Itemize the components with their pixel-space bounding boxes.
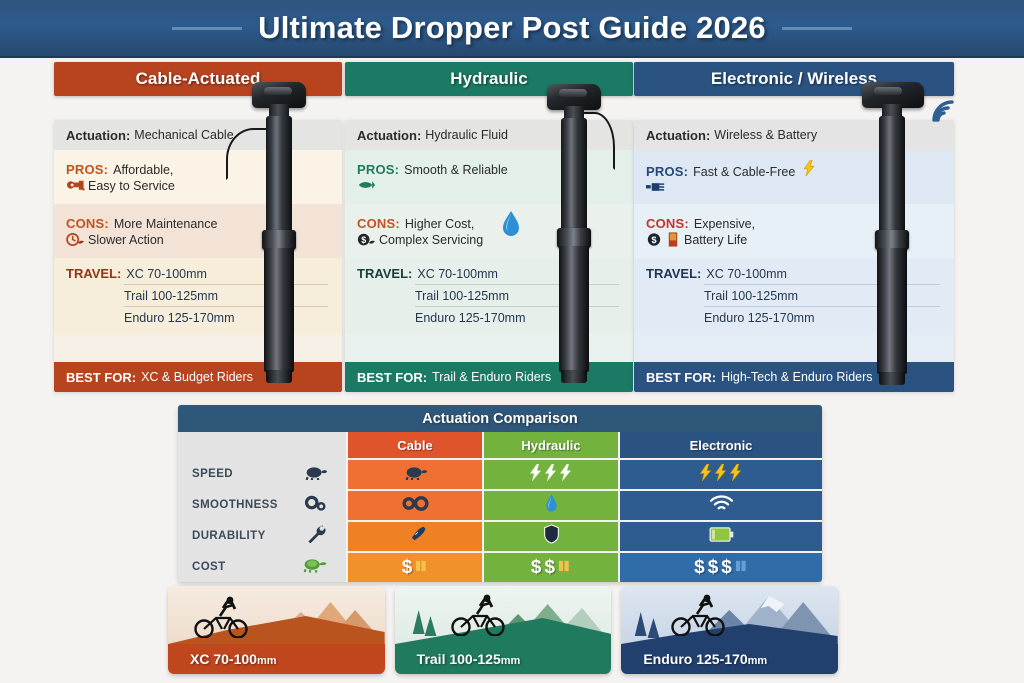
comparison-cell-speed-cable <box>346 458 482 489</box>
actuation-value-cable: Mechanical Cable <box>134 128 233 142</box>
lightning-yellow-icon <box>730 464 742 486</box>
page-title: Ultimate Dropper Post Guide 2026 <box>258 10 766 46</box>
actuation-label-cable: Actuation: <box>66 128 130 143</box>
pros-label-electronic: PROS: <box>646 164 688 179</box>
comparison-cell-smoothness-cable <box>346 489 482 520</box>
comparison-grid: Cable Hydraulic Electronic SPEED <box>178 432 822 582</box>
actuation-value-hydraulic: Hydraulic Fluid <box>425 128 508 142</box>
dollar-coin-icon: $ <box>646 232 663 247</box>
band-art-xc <box>168 586 385 644</box>
fish-icon <box>357 178 374 193</box>
comparison-cell-smoothness-electronic <box>618 489 822 520</box>
travel-enduro-electronic: Enduro 125-170mm <box>704 311 814 325</box>
band-xc-unit: mm <box>257 655 277 667</box>
travel-xc-hydraulic: XC 70-100mm <box>417 267 498 281</box>
hydraulic-drop-icon <box>500 210 522 238</box>
travel-xc-electronic: XC 70-100mm <box>706 267 787 281</box>
best-for-label-cable: BEST FOR: <box>66 370 136 385</box>
actuation-row-cable: Actuation: Mechanical Cable <box>54 120 342 150</box>
best-for-value-hydraulic: Trail & Enduro Riders <box>432 370 551 384</box>
band-enduro-main: Enduro 125-170 <box>643 651 747 667</box>
pros-label-cable: PROS: <box>66 162 108 177</box>
wrench-bracket-icon <box>66 178 83 193</box>
plug-cut-icon <box>646 180 663 195</box>
pros-text-1-electronic: Fast & Cable-Free <box>693 165 795 179</box>
comparison-cell-durability-electronic <box>618 520 822 551</box>
cons-row-hydraulic: CONS: Higher Cost, $ Complex Servicing <box>345 204 633 258</box>
comparison-title-bar: Actuation Comparison <box>178 405 822 432</box>
pros-label-hydraulic: PROS: <box>357 162 399 177</box>
dollar-sign-icon: $ <box>402 557 413 579</box>
comparison-cell-cost-hydraulic: $ $ <box>482 551 618 582</box>
card-header-hydraulic: Hydraulic <box>345 62 633 96</box>
band-trail-main: Trail 100-125 <box>417 651 501 667</box>
svg-text:$: $ <box>361 235 366 245</box>
comparison-cell-durability-hydraulic <box>482 520 618 551</box>
cons-text-1-cable: More Maintenance <box>114 217 218 231</box>
pros-text-2-cable: Easy to Service <box>88 179 175 193</box>
dollar-sign-icon: $ <box>708 557 719 579</box>
cons-text-1-hydraulic: Higher Cost, <box>405 217 474 231</box>
band-label-enduro-text: Enduro 125-170mm <box>643 651 767 667</box>
card-cable-actuated[interactable]: Cable-Actuated Actuation: Mechanical Cab… <box>54 62 342 392</box>
travel-label-cable: TRAVEL: <box>66 266 121 281</box>
comparison-title: Actuation Comparison <box>422 411 577 427</box>
band-enduro-unit: mm <box>748 655 768 667</box>
gears-icon <box>401 495 430 517</box>
travel-row-electronic: TRAVEL: XC 70-100mm Trail 100-125mm Endu… <box>634 258 954 334</box>
travel-trail-hydraulic: Trail 100-125mm <box>415 289 509 303</box>
actuation-comparison-table: Actuation Comparison Cable Hydraulic Ele… <box>178 405 822 582</box>
comparison-header-hydraulic-label: Hydraulic <box>521 438 580 453</box>
comparison-header-cable-label: Cable <box>397 438 432 453</box>
coin-stack-icon <box>558 559 571 577</box>
card-body-electronic: Actuation: Wireless & Battery PROS: Fast… <box>634 120 954 392</box>
band-label-trail-text: Trail 100-125mm <box>417 651 521 667</box>
actuation-value-electronic: Wireless & Battery <box>714 128 817 142</box>
band-xc-main: XC 70-100 <box>190 651 257 667</box>
actuation-row-electronic: Actuation: Wireless & Battery <box>634 120 954 150</box>
comparison-header-blank <box>178 432 346 458</box>
card-title-hydraulic: Hydraulic <box>450 69 527 89</box>
band-label-trail: Trail 100-125mm <box>395 644 612 674</box>
comparison-cell-speed-electronic <box>618 458 822 489</box>
comparison-row-label-durability: DURABILITY <box>178 520 346 551</box>
comparison-row-label-speed: SPEED <box>178 458 346 489</box>
cons-row-electronic: CONS: Expensive, $ Battery Life <box>634 204 954 258</box>
pros-text-1-cable: Affordable, <box>113 163 173 177</box>
band-label-xc: XC 70-100mm <box>168 644 385 674</box>
band-trail[interactable]: Trail 100-125mm <box>395 586 612 674</box>
lightning-yellow-icon <box>715 464 727 486</box>
band-xc[interactable]: XC 70-100mm <box>168 586 385 674</box>
comparison-cell-cost-cable: $ <box>346 551 482 582</box>
card-body-cable: Actuation: Mechanical Cable PROS: Afford… <box>54 120 342 392</box>
band-label-xc-text: XC 70-100mm <box>190 651 277 667</box>
row-label-speed: SPEED <box>192 468 233 480</box>
wifi-icon <box>709 495 734 517</box>
comparison-cell-smoothness-hydraulic <box>482 489 618 520</box>
battery-icon <box>709 526 734 548</box>
title-rule-left <box>172 27 242 30</box>
travel-enduro-hydraulic: Enduro 125-170mm <box>415 311 525 325</box>
card-hydraulic[interactable]: Hydraulic Actuation: Hydraulic Fluid PRO… <box>345 62 633 392</box>
dollar-sign-icon: $ <box>721 557 732 579</box>
row-label-cost: COST <box>192 561 226 573</box>
cons-label-hydraulic: CONS: <box>357 216 400 231</box>
cyclist-icon <box>667 594 737 636</box>
turtle-green-icon <box>300 557 328 577</box>
travel-label-hydraulic: TRAVEL: <box>357 266 412 281</box>
lightning-white-icon <box>530 464 542 486</box>
best-for-row-electronic: BEST FOR: High-Tech & Enduro Riders <box>634 362 954 392</box>
lightning-bolt-icon <box>803 160 820 175</box>
turtle-icon <box>302 465 328 483</box>
best-for-row-cable: BEST FOR: XC & Budget Riders <box>54 362 342 392</box>
travel-trail-cable: Trail 100-125mm <box>124 289 218 303</box>
band-enduro[interactable]: Enduro 125-170mm <box>621 586 838 674</box>
card-title-electronic: Electronic / Wireless <box>711 69 877 89</box>
best-for-value-electronic: High-Tech & Enduro Riders <box>721 370 872 384</box>
dollar-sign-icon: $ <box>545 557 556 579</box>
wrench-icon <box>404 525 427 548</box>
row-label-durability: DURABILITY <box>192 530 266 542</box>
coin-stack-icon <box>415 559 428 577</box>
row-label-smoothness: SMOOTHNESS <box>192 499 278 511</box>
travel-trail-electronic: Trail 100-125mm <box>704 289 798 303</box>
comparison-header-electronic-label: Electronic <box>690 438 753 453</box>
travel-category-bands: XC 70-100mm Trail 100-125mm <box>168 586 838 674</box>
pros-row-cable: PROS: Affordable, Easy to Service <box>54 150 342 204</box>
wrench-icon <box>305 525 328 546</box>
cons-label-electronic: CONS: <box>646 216 689 231</box>
card-header-cable: Cable-Actuated <box>54 62 342 96</box>
clock-icon <box>66 232 83 247</box>
band-art-trail <box>395 586 612 644</box>
cons-text-2-hydraulic: Complex Servicing <box>379 233 483 247</box>
travel-enduro-cable: Enduro 125-170mm <box>124 311 234 325</box>
travel-xc-cable: XC 70-100mm <box>126 267 207 281</box>
lightning-white-icon <box>560 464 572 486</box>
page-header: Ultimate Dropper Post Guide 2026 <box>0 0 1024 58</box>
water-drop-icon <box>544 493 559 519</box>
comparison-cell-speed-hydraulic <box>482 458 618 489</box>
shield-icon <box>543 524 560 549</box>
pros-text-1-hydraulic: Smooth & Reliable <box>404 163 508 177</box>
travel-label-electronic: TRAVEL: <box>646 266 701 281</box>
comparison-cards: Cable-Actuated Actuation: Mechanical Cab… <box>0 62 1024 392</box>
comparison-cell-durability-cable <box>346 520 482 551</box>
band-art-enduro <box>621 586 838 644</box>
comparison-cell-cost-electronic: $ $ $ <box>618 551 822 582</box>
wifi-signal-icon <box>924 92 958 128</box>
card-body-hydraulic: Actuation: Hydraulic Fluid PROS: Smooth … <box>345 120 633 392</box>
comparison-header-cable: Cable <box>346 432 482 458</box>
cons-text-1-electronic: Expensive, <box>694 217 755 231</box>
dollar-coin-icon: $ <box>357 232 374 247</box>
actuation-label-electronic: Actuation: <box>646 128 710 143</box>
pros-row-hydraulic: PROS: Smooth & Reliable <box>345 150 633 204</box>
actuation-label-hydraulic: Actuation: <box>357 128 421 143</box>
svg-text:$: $ <box>651 235 657 245</box>
travel-row-cable: TRAVEL: XC 70-100mm Trail 100-125mm Endu… <box>54 258 342 334</box>
best-for-row-hydraulic: BEST FOR: Trail & Enduro Riders <box>345 362 633 392</box>
cons-label-cable: CONS: <box>66 216 109 231</box>
cyclist-icon <box>190 596 260 638</box>
turtle-icon <box>402 465 428 485</box>
cons-text-2-electronic: Battery Life <box>684 233 747 247</box>
cons-row-cable: CONS: More Maintenance Slower Action <box>54 204 342 258</box>
best-for-label-hydraulic: BEST FOR: <box>357 370 427 385</box>
pros-row-electronic: PROS: Fast & Cable-Free <box>634 150 954 204</box>
comparison-header-hydraulic: Hydraulic <box>482 432 618 458</box>
comparison-row-label-smoothness: SMOOTHNESS <box>178 489 346 520</box>
lightning-white-icon <box>545 464 557 486</box>
cons-text-2-cable: Slower Action <box>88 233 164 247</box>
best-for-label-electronic: BEST FOR: <box>646 370 716 385</box>
title-rule-right <box>782 27 852 30</box>
card-header-electronic: Electronic / Wireless <box>634 62 954 96</box>
card-title-cable: Cable-Actuated <box>136 69 261 89</box>
comparison-row-label-cost: COST <box>178 551 346 582</box>
band-label-enduro: Enduro 125-170mm <box>621 644 838 674</box>
actuation-row-hydraulic: Actuation: Hydraulic Fluid <box>345 120 633 150</box>
coin-stack-icon <box>735 559 748 577</box>
cyclist-icon <box>447 594 517 636</box>
comparison-header-electronic: Electronic <box>618 432 822 458</box>
band-trail-unit: mm <box>501 655 521 667</box>
card-electronic-wireless[interactable]: Electronic / Wireless Actuation: Wireles… <box>634 62 954 392</box>
gears-icon <box>303 495 328 515</box>
dollar-sign-icon: $ <box>694 557 705 579</box>
dollar-sign-icon: $ <box>531 557 542 579</box>
best-for-value-cable: XC & Budget Riders <box>141 370 253 384</box>
battery-icon <box>668 232 679 247</box>
lightning-yellow-icon <box>700 464 712 486</box>
travel-row-hydraulic: TRAVEL: XC 70-100mm Trail 100-125mm Endu… <box>345 258 633 334</box>
